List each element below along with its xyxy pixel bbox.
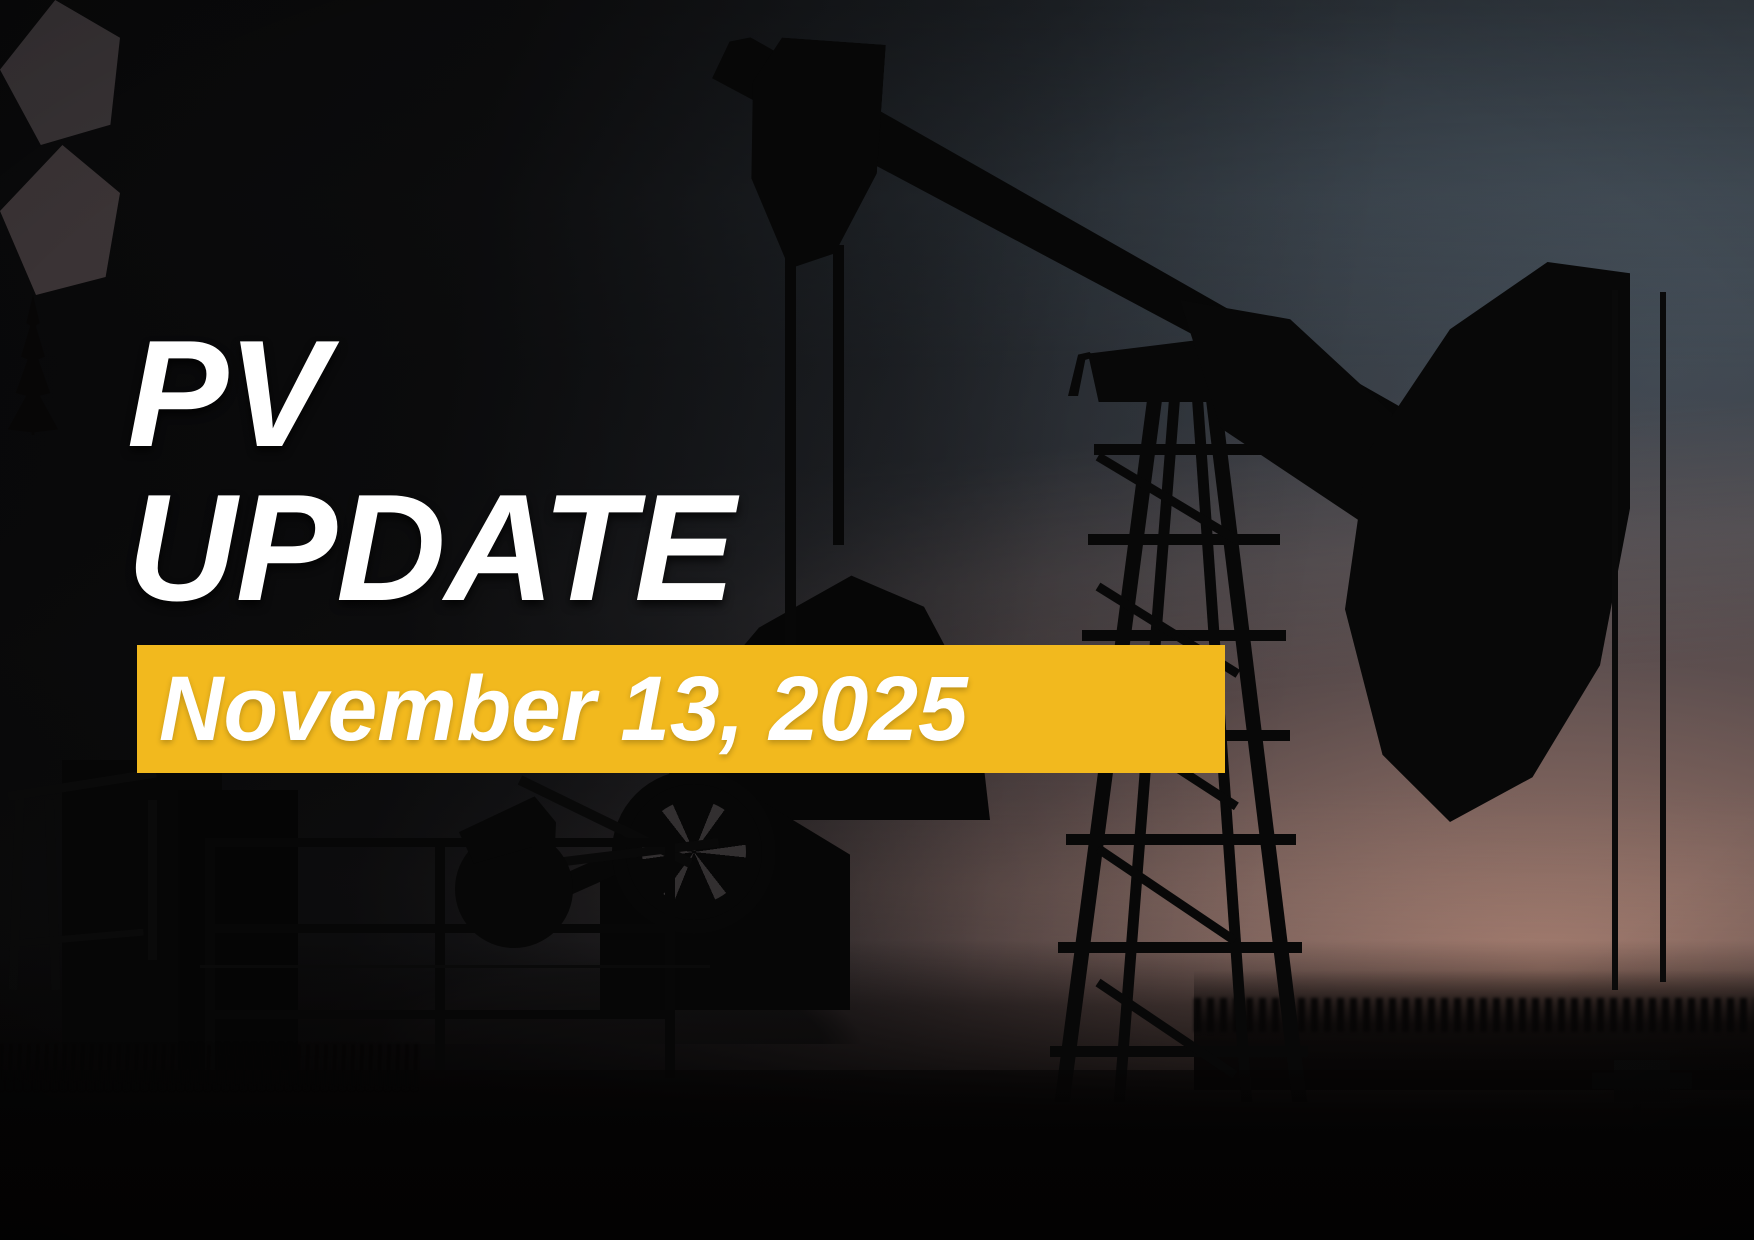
tower-rung bbox=[1066, 834, 1296, 845]
bridle-cable-right bbox=[1660, 292, 1666, 982]
horse-head-cutout-upper bbox=[0, 0, 120, 145]
horse-head-cutout-lower bbox=[0, 145, 120, 295]
title-line-update: UPDATE bbox=[127, 476, 1247, 620]
guard-railing bbox=[205, 838, 675, 1078]
railing-horizontal bbox=[205, 924, 675, 933]
foreground-grass bbox=[0, 1044, 420, 1090]
railing-vertical bbox=[435, 838, 445, 1078]
railing-vertical bbox=[665, 838, 675, 1078]
railing-wire bbox=[200, 965, 710, 968]
foreground-ground-plane bbox=[0, 1070, 1754, 1240]
railing-post-right bbox=[148, 800, 157, 960]
pine-tree-silhouette bbox=[0, 295, 66, 435]
railing-post-left bbox=[9, 790, 25, 990]
date-banner: November 13, 2025 bbox=[137, 645, 1225, 773]
date-label: November 13, 2025 bbox=[159, 663, 968, 755]
tower-rung bbox=[1050, 1046, 1308, 1057]
headline-block: PV UPDATE November 13, 2025 bbox=[127, 322, 1247, 773]
railing-horizontal bbox=[205, 838, 675, 847]
pv-update-banner: PV UPDATE November 13, 2025 bbox=[0, 0, 1754, 1240]
railing-vertical bbox=[205, 838, 215, 1078]
walking-beam-tail-block bbox=[740, 36, 886, 275]
title-line-pv: PV bbox=[127, 322, 1247, 466]
tower-diagonal-brace bbox=[1095, 845, 1237, 945]
railing-post-left-2 bbox=[45, 800, 61, 990]
tower-rung bbox=[1058, 942, 1302, 953]
railing-horizontal bbox=[205, 1010, 675, 1019]
bridle-cable-left bbox=[1612, 290, 1618, 990]
